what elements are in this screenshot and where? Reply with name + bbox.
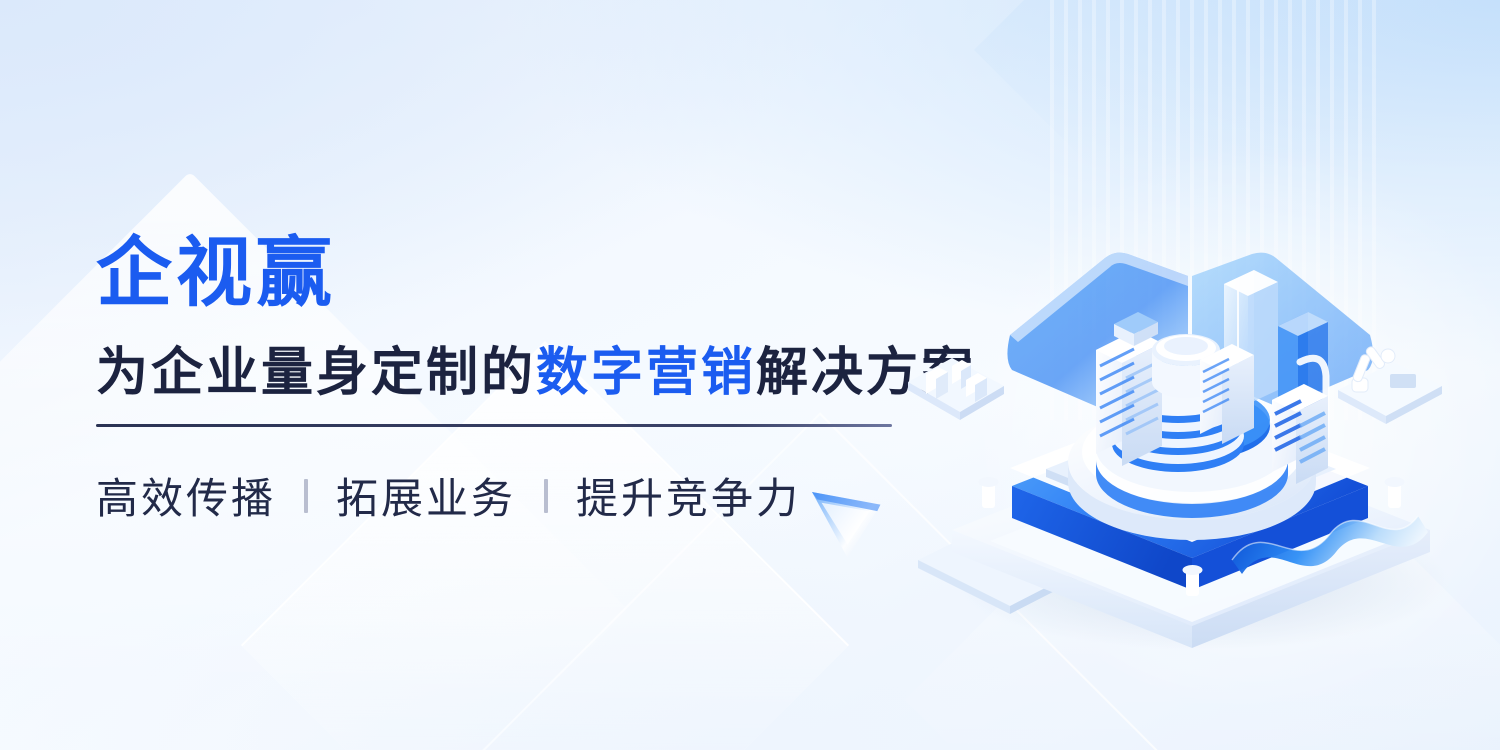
tagline-item-2: 拓展业务 — [336, 465, 516, 526]
corner-post — [1385, 477, 1405, 508]
tagline-separator-icon — [544, 479, 548, 513]
mini-buildings-platform — [908, 358, 1004, 420]
hero-banner: 企视赢 为企业量身定制的数字营销解决方案 高效传播 拓展业务 提升竞争力 — [0, 0, 1500, 750]
robot-grid-detail — [1390, 374, 1416, 388]
hero-copy-block: 企视赢 为企业量身定制的数字营销解决方案 高效传播 拓展业务 提升竞争力 — [96, 236, 916, 526]
divider-rule — [96, 424, 892, 427]
tagline-separator-icon — [304, 479, 308, 513]
smart-city-illustration — [900, 230, 1480, 650]
corner-post — [979, 477, 999, 508]
headline: 为企业量身定制的数字营销解决方案 — [96, 344, 916, 402]
brand-title: 企视赢 — [96, 236, 916, 312]
ribbed-building — [1200, 344, 1254, 444]
tagline-list: 高效传播 拓展业务 提升竞争力 — [96, 465, 916, 526]
tagline-item-1: 高效传播 — [96, 465, 276, 526]
tagline-item-3: 提升竞争力 — [576, 465, 801, 526]
headline-prefix: 为企业量身定制的 — [96, 344, 536, 402]
headline-highlight: 数字营销 — [536, 344, 756, 402]
